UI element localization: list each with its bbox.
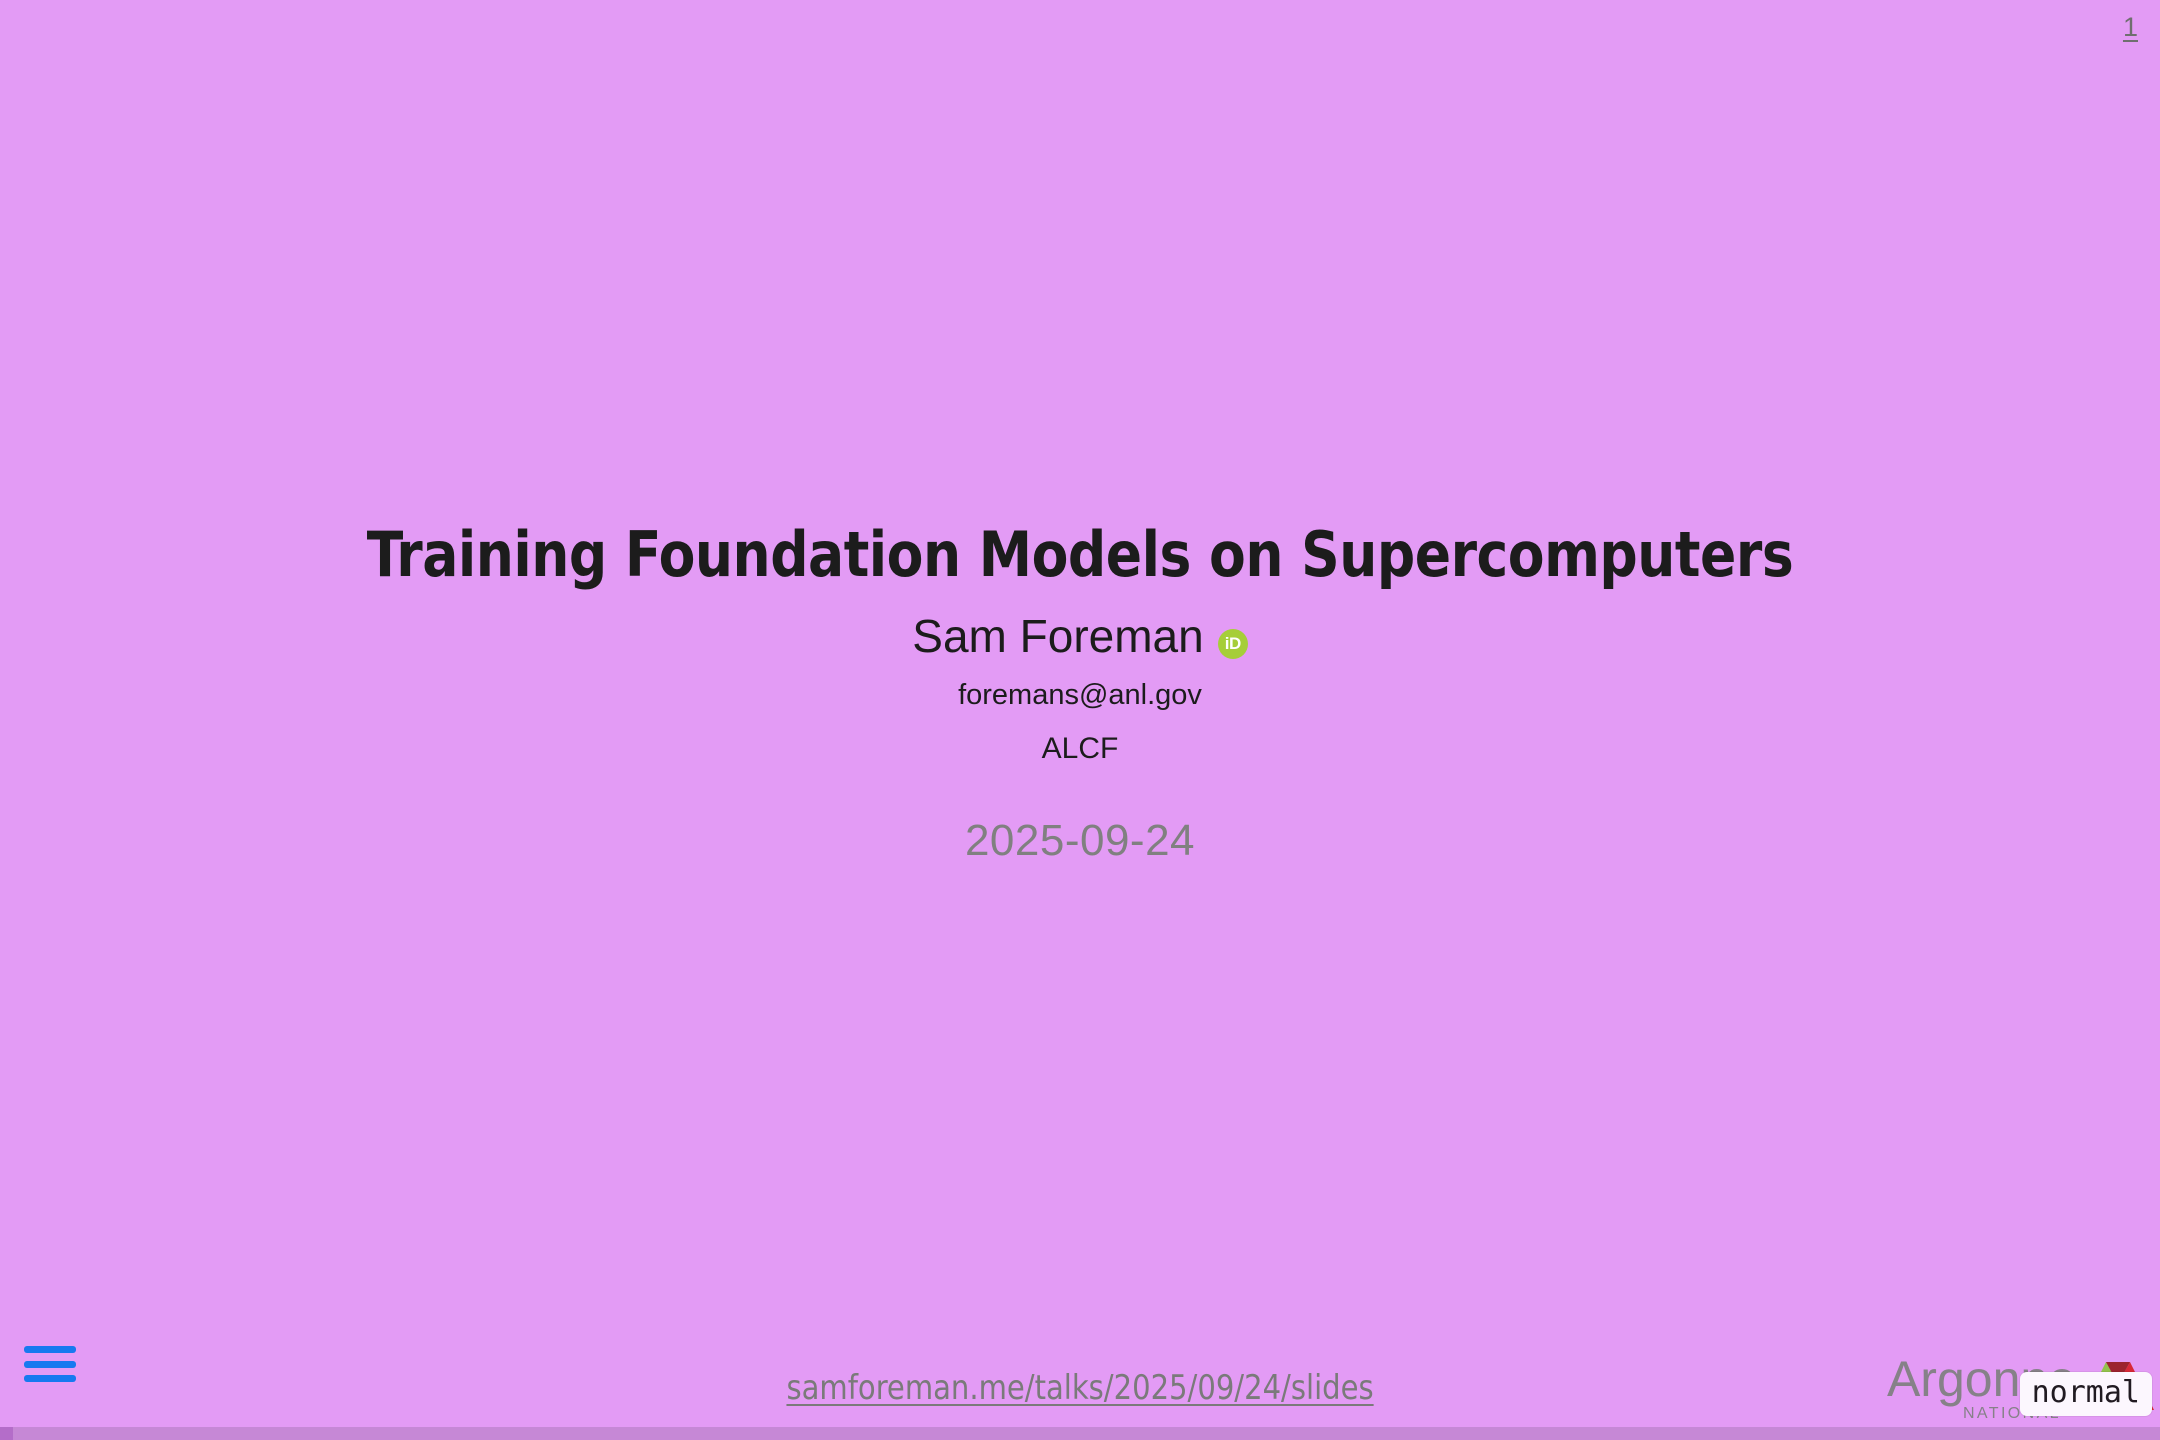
argonne-logo: Argonne NATIONAL normal (1887, 1354, 2154, 1422)
author-name: Sam Foreman (912, 611, 1203, 662)
author-email: foremans@anl.gov (0, 678, 2160, 713)
page-title: Training Foundation Models on Supercompu… (43, 520, 2117, 589)
slide-number-link[interactable]: 1 (2123, 14, 2138, 41)
menu-bar (24, 1375, 76, 1382)
slide-progress-bar[interactable] (0, 1427, 2160, 1440)
mode-badge: normal (2020, 1372, 2152, 1416)
title-block: Training Foundation Models on Supercompu… (0, 520, 2160, 868)
talk-date: 2025-09-24 (0, 815, 2160, 868)
hamburger-menu-icon[interactable] (24, 1344, 76, 1384)
footer: samforeman.me/talks/2025/09/24/slides (0, 1368, 2160, 1408)
slide-progress-fill (0, 1427, 13, 1440)
orcid-icon[interactable]: iD (1218, 629, 1248, 659)
author-line: Sam Foreman iD (0, 611, 2160, 662)
slides-url-link[interactable]: samforeman.me/talks/2025/09/24/slides (786, 1368, 1373, 1408)
menu-bar (24, 1346, 76, 1353)
presentation-slide: 1 Training Foundation Models on Supercom… (0, 0, 2160, 1440)
menu-bar (24, 1361, 76, 1368)
author-affiliation: ALCF (0, 731, 2160, 767)
